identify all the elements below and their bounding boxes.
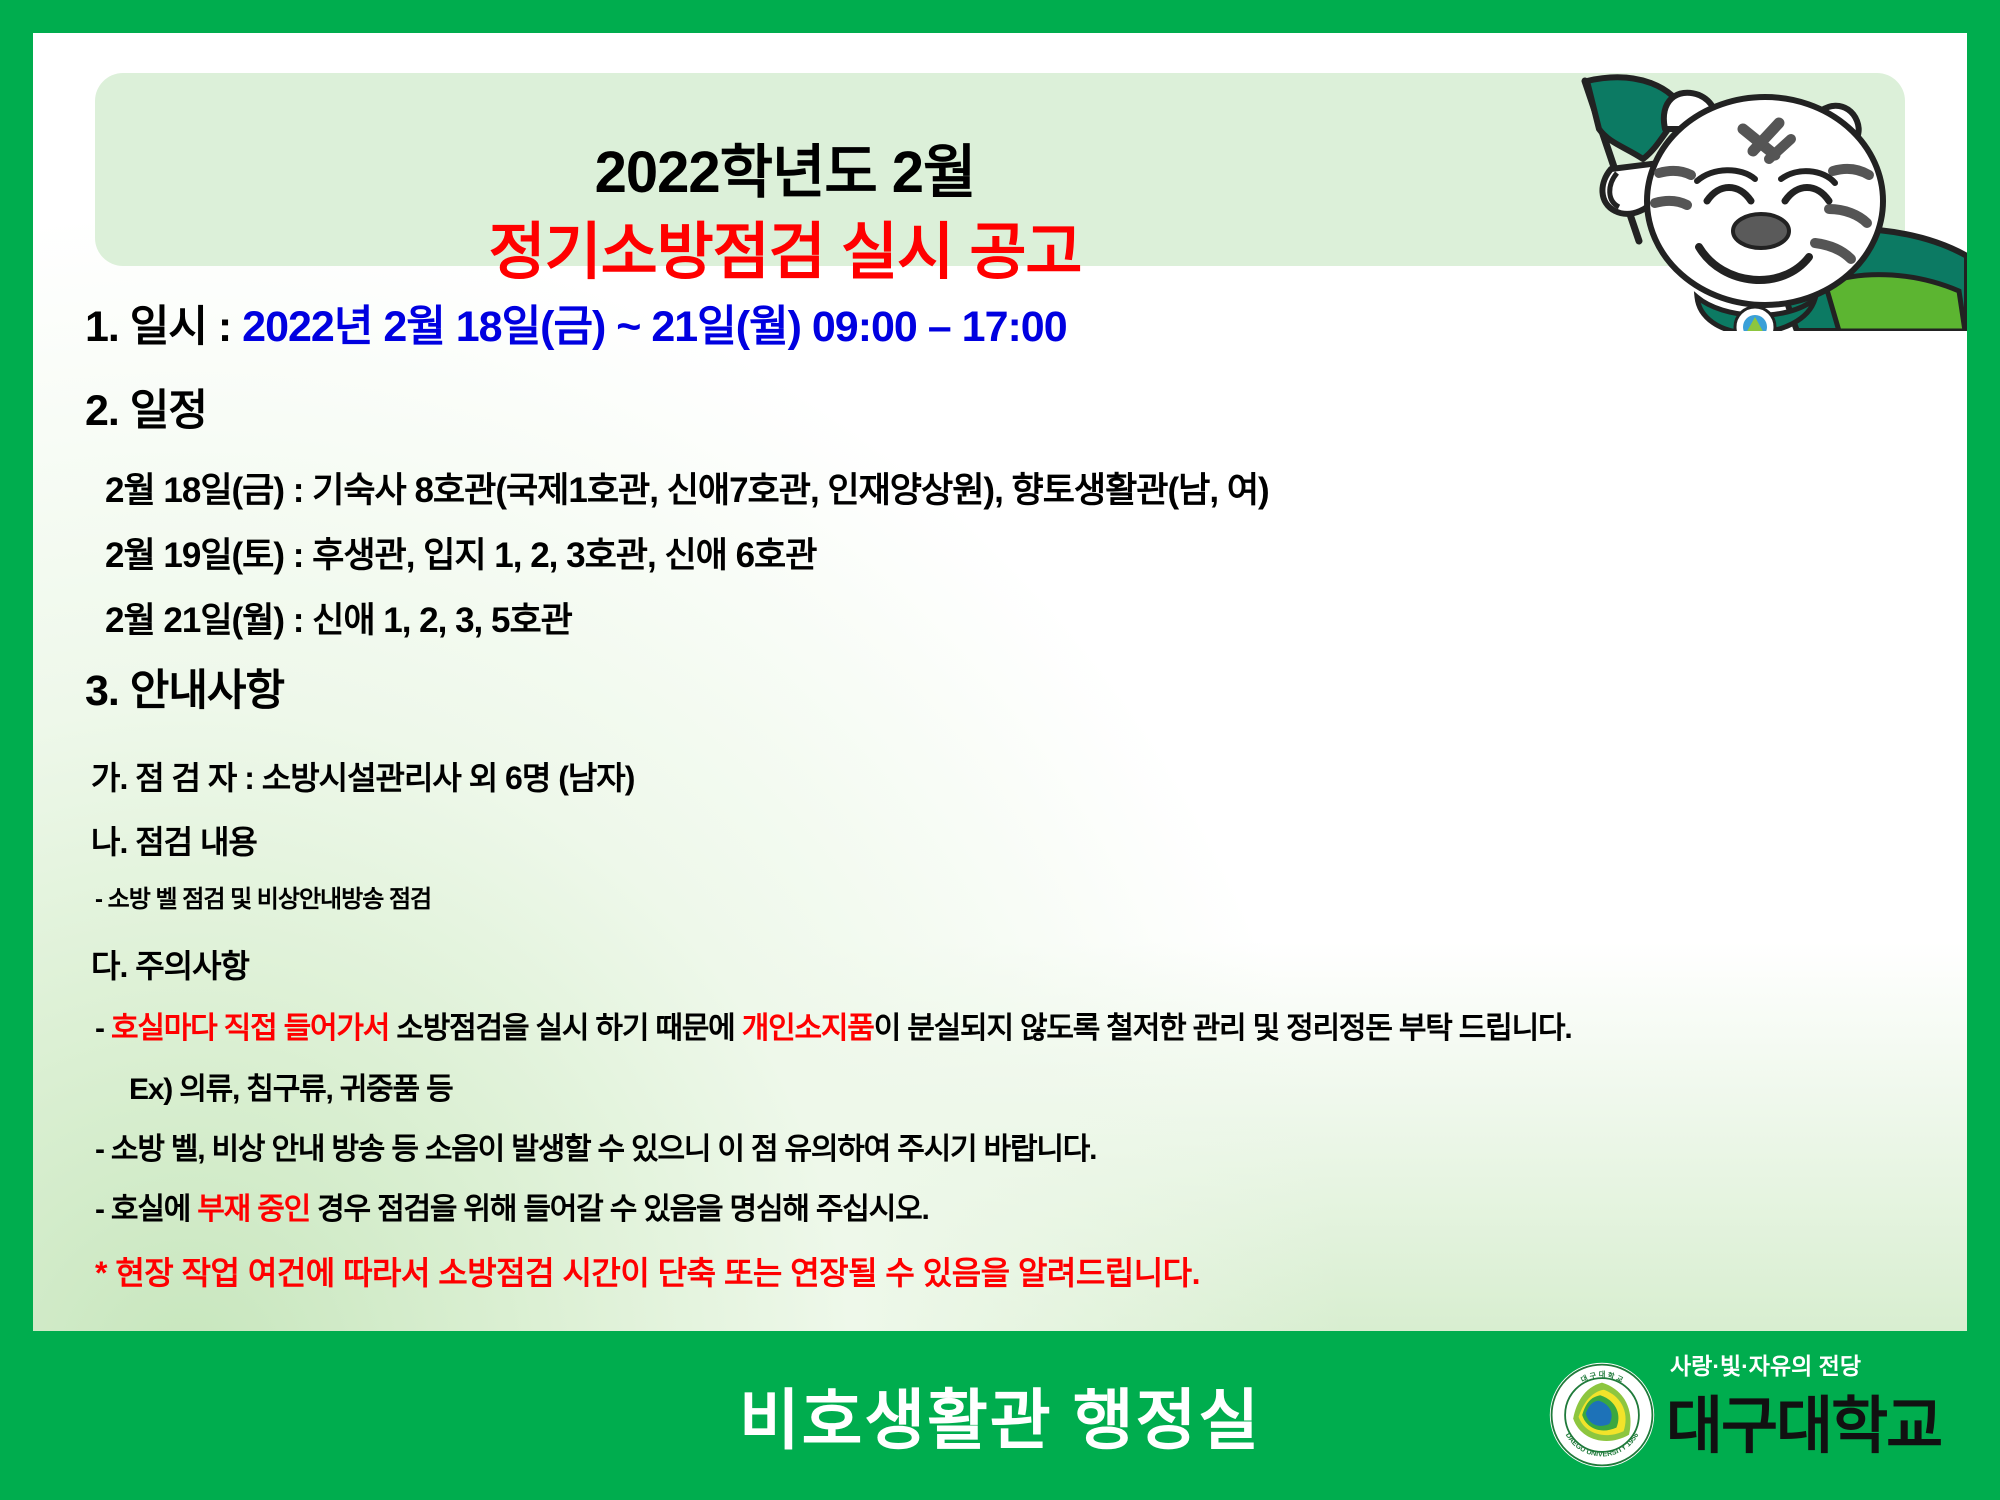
title-banner: 2022학년도 2월 정기소방점검 실시 공고: [95, 73, 1905, 266]
section-1-label: 1. 일시 :: [85, 303, 242, 351]
poster-inner-panel: 2022학년도 2월 정기소방점검 실시 공고: [33, 33, 1967, 1331]
schedule-row: 2월 19일(토) : 후생관, 입지 1, 2, 3호관, 신애 6호관: [105, 527, 816, 578]
caution-line: - 소방 벨, 비상 안내 방송 등 소음이 발생할 수 있으니 이 점 유의하…: [95, 1124, 1096, 1168]
section-3-heading: 3. 안내사항: [85, 656, 284, 718]
poster-root: 2022학년도 2월 정기소방점검 실시 공고: [0, 0, 2000, 1500]
inspection-scope-item: - 소방 벨 점검 및 비상안내방송 점검: [95, 879, 431, 914]
section-1-datetime: 1. 일시 : 2022년 2월 18일(금) ~ 21일(월) 09:00 –…: [85, 292, 1067, 354]
page-title-year: 2022학년도 2월: [95, 125, 1475, 209]
caution-line-example: Ex) 의류, 침구류, 귀중품 등: [129, 1064, 453, 1108]
inspector-info: 가. 점 검 자 : 소방시설관리사 외 6명 (남자): [91, 753, 634, 799]
page-title-main: 정기소방점검 실시 공고: [95, 201, 1475, 291]
caution-line: - 호실에 부재 중인 경우 점검을 위해 들어갈 수 있음을 명심해 주십시오…: [95, 1184, 929, 1228]
university-brand: 대 구 대 학 교 DAEGU UNIVERSITY 1956 사랑·빛·자유의…: [1540, 1343, 1970, 1488]
schedule-row: 2월 18일(금) : 기숙사 8호관(국제1호관, 신애7호관, 인재양상원)…: [105, 462, 1269, 513]
section-1-value: 2022년 2월 18일(금) ~ 21일(월) 09:00 – 17:00: [242, 303, 1066, 351]
footnote-schedule-change: * 현장 작업 여건에 따라서 소방점검 시간이 단축 또는 연장될 수 있음을…: [95, 1248, 1200, 1294]
daegu-university-emblem-icon: 대 구 대 학 교 DAEGU UNIVERSITY 1956: [1548, 1361, 1656, 1469]
caution-line: - 호실마다 직접 들어가서 소방점검을 실시 하기 때문에 개인소지품이 분실…: [95, 1003, 1572, 1047]
inspection-scope-heading: 나. 점검 내용: [91, 817, 257, 863]
poster-footer: 비호생활관 행정실 대 구 대 학 교: [0, 1331, 2000, 1500]
section-2-heading: 2. 일정: [85, 376, 207, 438]
cautions-heading: 다. 주의사항: [91, 941, 249, 987]
schedule-row: 2월 21일(월) : 신애 1, 2, 3, 5호관: [105, 592, 572, 643]
brand-name: 대구대학교: [1666, 1375, 1941, 1465]
